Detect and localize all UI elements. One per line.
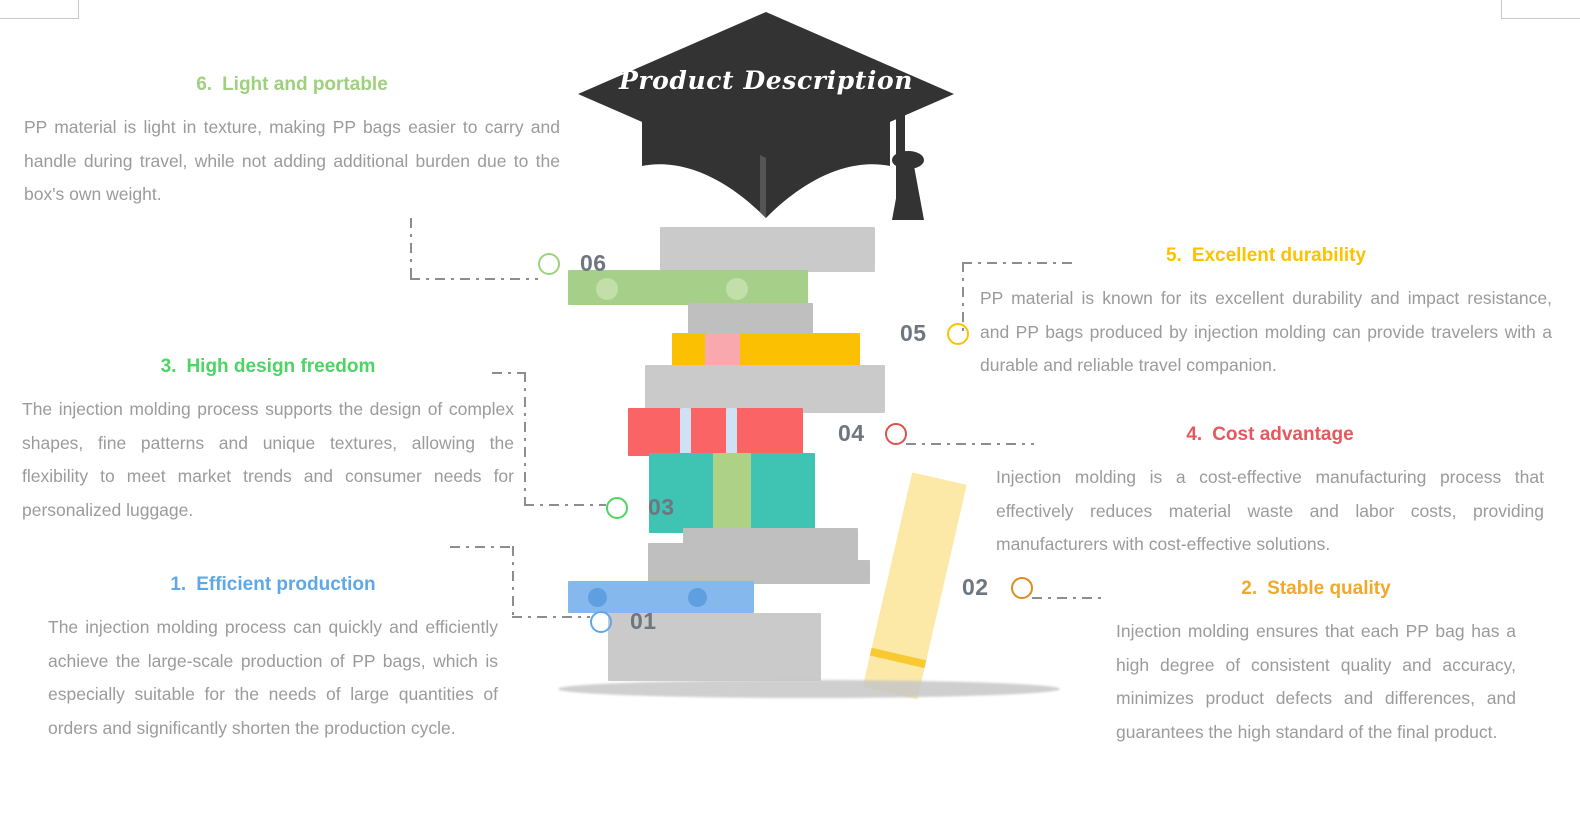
item-title-1: 1.Efficient production (48, 574, 498, 597)
item-body-3: The injection molding process supports t… (22, 393, 514, 528)
item-title-text-3: High design freedom (186, 356, 375, 377)
item-number-5: 5. (1166, 245, 1182, 266)
luggage-blue-strap-1 (680, 408, 691, 456)
marker-ring-03 (606, 497, 628, 519)
item-block-4: 4.Cost advantage Injection molding is a … (996, 424, 1544, 562)
luggage-layer-red (628, 408, 803, 456)
item-title-text-2: Stable quality (1267, 578, 1391, 599)
item-number-3: 3. (161, 356, 177, 377)
item-block-2: 2.Stable quality Injection molding ensur… (1116, 578, 1516, 750)
item-title-3: 3.High design freedom (22, 356, 514, 379)
item-body-5: PP material is known for its excellent d… (980, 282, 1552, 383)
marker-01[interactable]: 01 (590, 608, 657, 635)
green-case-dot-left (596, 278, 618, 300)
green-case-dot-right (726, 278, 748, 300)
luggage-green-strap (713, 453, 751, 533)
connector-01-stub (450, 546, 514, 548)
item-title-text-5: Excellent durability (1192, 245, 1366, 266)
item-title-5: 5.Excellent durability (980, 245, 1552, 268)
luggage-pink-strap (705, 333, 740, 367)
connector-03-horizontal (524, 504, 606, 506)
blue-case-dot-right (688, 588, 707, 607)
marker-number-02: 02 (962, 574, 989, 601)
connector-02-horizontal (1032, 597, 1106, 599)
item-block-1: 1.Efficient production The injection mol… (48, 574, 498, 746)
header-banner: Product Description (576, 8, 956, 223)
crop-mark-top-right (1501, 0, 1580, 19)
graduation-cap-icon (576, 8, 956, 223)
ground-shadow (558, 680, 1060, 698)
marker-number-06: 06 (580, 250, 607, 277)
connector-03-vertical (524, 372, 526, 506)
blue-case-dot-left (588, 588, 607, 607)
item-block-5: 5.Excellent durability PP material is kn… (980, 245, 1552, 383)
connector-01-vertical (512, 546, 514, 618)
marker-05[interactable]: 05 (900, 320, 969, 347)
item-body-6: PP material is light in texture, making … (24, 111, 560, 212)
item-title-text-6: Light and portable (222, 74, 388, 95)
marker-03[interactable]: 03 (606, 494, 675, 521)
item-number-4: 4. (1186, 424, 1202, 445)
connector-05-vertical (962, 262, 964, 334)
item-number-2: 2. (1241, 578, 1257, 599)
item-block-6: 6.Light and portable PP material is ligh… (24, 74, 560, 212)
item-number-1: 1. (170, 574, 186, 595)
marker-ring-06 (538, 253, 560, 275)
marker-number-03: 03 (648, 494, 675, 521)
item-number-6: 6. (196, 74, 212, 95)
luggage-blue-strap-2 (726, 408, 737, 456)
luggage-layer-gray-top (660, 227, 875, 272)
connector-01-horizontal (512, 616, 590, 618)
marker-number-04: 04 (838, 420, 865, 447)
connector-06-vertical (410, 218, 412, 280)
marker-number-01: 01 (630, 608, 657, 635)
luggage-layer-gray-3 (645, 365, 885, 413)
item-title-6: 6.Light and portable (24, 74, 560, 97)
crop-mark-top-left (0, 0, 79, 19)
item-body-1: The injection molding process can quickl… (48, 611, 498, 746)
luggage-layer-gray-2 (688, 303, 813, 335)
luggage-layer-yellow (672, 333, 860, 367)
item-body-4: Injection molding is a cost-effective ma… (996, 461, 1544, 562)
infographic-canvas: Product Description (0, 0, 1580, 830)
marker-ring-04 (885, 423, 907, 445)
marker-04[interactable]: 04 (838, 420, 907, 447)
item-title-text-4: Cost advantage (1212, 424, 1353, 445)
connector-06-horizontal (410, 278, 538, 280)
marker-02[interactable]: 02 (962, 574, 1033, 601)
item-title-text-1: Efficient production (196, 574, 375, 595)
marker-number-05: 05 (900, 320, 927, 347)
item-body-2: Injection molding ensures that each PP b… (1116, 615, 1516, 750)
marker-ring-05 (947, 323, 969, 345)
item-title-4: 4.Cost advantage (996, 424, 1544, 447)
yellow-bag-stripe (863, 472, 967, 699)
item-block-3: 3.High design freedom The injection mold… (22, 356, 514, 528)
marker-06[interactable]: 06 (538, 250, 607, 277)
marker-ring-01 (590, 611, 612, 633)
item-title-2: 2.Stable quality (1116, 578, 1516, 601)
marker-ring-02 (1011, 577, 1033, 599)
